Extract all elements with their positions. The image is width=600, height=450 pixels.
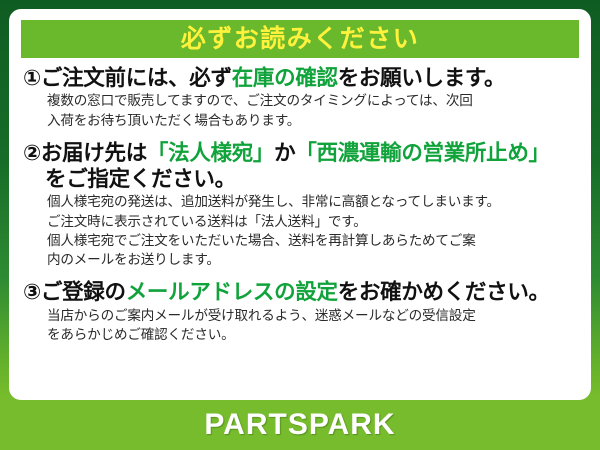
notice-panel: 必ずお読みください ①ご注文前には、必ず在庫の確認をお願いします。 複数の窓口で…: [9, 9, 591, 400]
notice-item-3-heading-post: をお確かめください。: [338, 280, 550, 304]
notice-item-1-body-line-2: 入荷をお待ち頂いただく場合もあります。: [47, 111, 577, 130]
notice-item-3-body-line-1: 当店からのご案内メールが受け取れるよう、迷惑メールなどの受信設定: [47, 306, 577, 325]
notice-item-2-heading-pre: お届け先は: [41, 141, 147, 165]
notice-item-1-marker: ①: [23, 66, 41, 90]
partspark-logo: PARTSPARK: [204, 410, 395, 440]
notice-item-2-body-line-3: 個人様宅宛でご注文をいただいた場合、送料を再計算しあらためてご案: [47, 231, 577, 250]
notice-item-2-heading-highlight: 「法人様宛」: [147, 141, 274, 165]
notice-item-3-heading-highlight: メールアドレスの設定: [126, 280, 338, 304]
notice-item-1-heading-pre: ご注文前には、必ず: [41, 66, 232, 90]
notice-item-1: ①ご注文前には、必ず在庫の確認をお願いします。 複数の窓口で販売してますので、ご…: [23, 65, 577, 130]
notice-item-1-body: 複数の窓口で販売してますので、ご注文のタイミングによっては、次回 入荷をお待ち頂…: [23, 91, 577, 130]
notice-item-2-body-line-1: 個人様宅宛の発送は、追加送料が発生し、非常に高額となってしまいます。: [47, 192, 577, 211]
notice-item-3-heading: ③ご登録のメールアドレスの設定をお確かめください。: [23, 279, 577, 305]
notice-item-2-marker: ②: [23, 141, 41, 165]
notice-item-2-heading: ②お届け先は「法人様宛」か「西濃運輸の営業所止め」: [23, 140, 577, 166]
notice-item-2: ②お届け先は「法人様宛」か「西濃運輸の営業所止め」 をご指定ください。 個人様宅…: [23, 140, 577, 270]
notice-item-3-heading-pre: ご登録の: [41, 280, 126, 304]
notice-card: 必ずお読みください ①ご注文前には、必ず在庫の確認をお願いします。 複数の窓口で…: [0, 0, 600, 450]
notice-item-3-marker: ③: [23, 280, 41, 304]
notice-item-1-heading-post: をお願いします。: [338, 66, 505, 90]
notice-item-1-body-line-1: 複数の窓口で販売してますので、ご注文のタイミングによっては、次回: [47, 91, 577, 110]
notice-item-1-heading-highlight: 在庫の確認: [232, 66, 338, 90]
notice-item-3-body-line-2: をあらかじめご確認ください。: [47, 325, 577, 344]
notice-items-list: ①ご注文前には、必ず在庫の確認をお願いします。 複数の窓口で販売してますので、ご…: [21, 58, 579, 344]
notice-header-banner: 必ずお読みください: [21, 20, 579, 58]
notice-item-2-body: 個人様宅宛の発送は、追加送料が発生し、非常に高額となってしまいます。 ご注文時に…: [23, 192, 577, 269]
notice-item-3: ③ご登録のメールアドレスの設定をお確かめください。 当店からのご案内メールが受け…: [23, 279, 577, 344]
notice-item-3-body: 当店からのご案内メールが受け取れるよう、迷惑メールなどの受信設定 をあらかじめご…: [23, 306, 577, 345]
notice-item-2-body-line-2: ご注文時に表示されている送料は「法人送料」です。: [47, 212, 577, 231]
notice-item-1-heading: ①ご注文前には、必ず在庫の確認をお願いします。: [23, 65, 577, 91]
notice-item-2-heading-mid: か: [274, 141, 295, 165]
notice-item-2-heading-highlight-2: 「西濃運輸の営業所止め」: [295, 141, 549, 165]
notice-item-2-heading-line-2: をご指定ください。: [23, 166, 577, 192]
notice-item-2-body-line-4: 内のメールをお送りします。: [47, 250, 577, 269]
notice-footer: PARTSPARK: [0, 400, 600, 450]
notice-title: 必ずお読みください: [181, 27, 420, 52]
